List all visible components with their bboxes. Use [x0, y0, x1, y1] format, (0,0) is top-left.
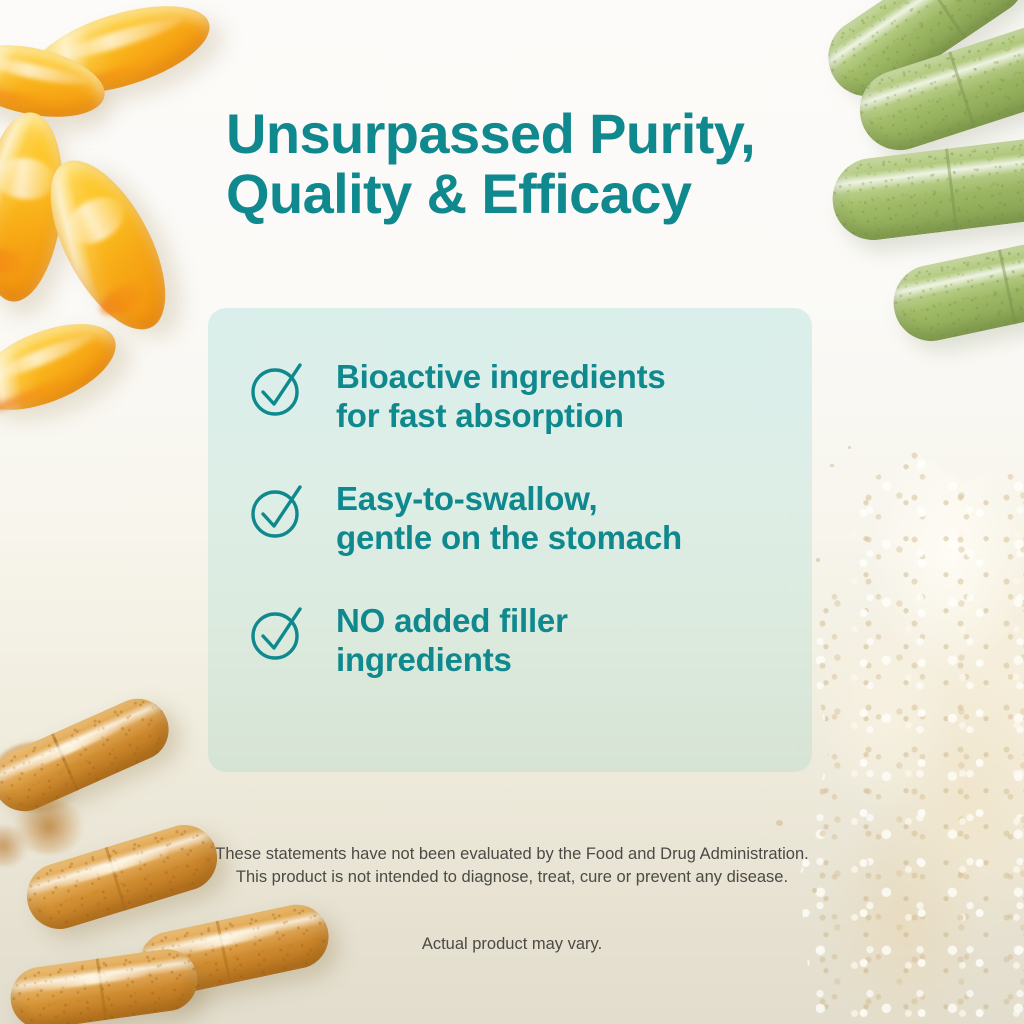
benefit-item: Bioactive ingredients for fast absorptio… — [248, 356, 788, 436]
softgel-capsule — [0, 108, 72, 305]
green-capsule — [849, 11, 1024, 160]
softgel-capsule — [27, 143, 188, 347]
benefits-list: Bioactive ingredients for fast absorptio… — [248, 356, 788, 680]
benefit-item: NO added filler ingredients — [248, 600, 788, 680]
check-circle-icon — [248, 482, 306, 540]
softgel-capsule — [0, 33, 111, 129]
green-capsule — [887, 228, 1024, 348]
turmeric-capsule — [7, 945, 202, 1024]
benefit-label: Bioactive ingredients for fast absorptio… — [336, 356, 666, 436]
turmeric-capsule — [19, 817, 226, 937]
benefit-label: Easy-to-swallow, gentle on the stomach — [336, 478, 682, 558]
green-capsule — [828, 133, 1024, 244]
softgel-capsule — [22, 0, 220, 111]
green-capsule — [813, 0, 1024, 111]
benefit-label: NO added filler ingredients — [336, 600, 568, 680]
fda-disclaimer: These statements have not been evaluated… — [212, 843, 812, 890]
benefit-item: Easy-to-swallow, gentle on the stomach — [248, 478, 788, 558]
softgel-capsule — [0, 306, 128, 427]
promo-graphic: Unsurpassed Purity, Quality & Efficacy B… — [0, 0, 1024, 1024]
check-circle-icon — [248, 604, 306, 662]
product-variation-note: Actual product may vary. — [212, 933, 812, 956]
page-title: Unsurpassed Purity, Quality & Efficacy — [226, 104, 826, 225]
turmeric-capsule — [0, 689, 179, 821]
check-circle-icon — [248, 360, 306, 418]
